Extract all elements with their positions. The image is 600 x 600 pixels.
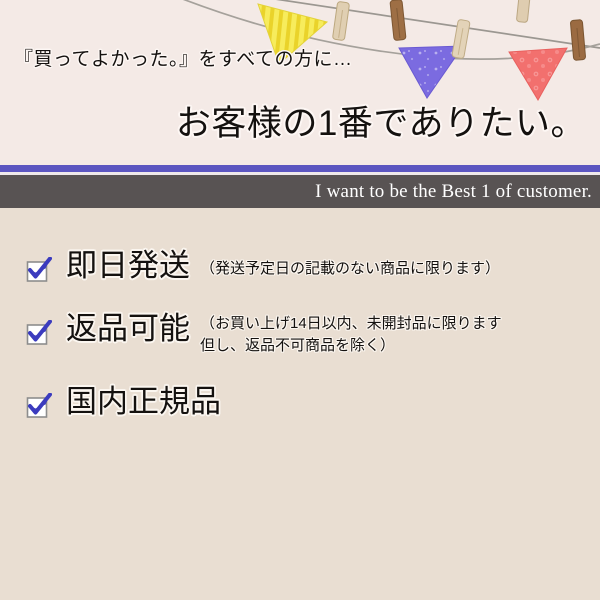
bunting-string-upper (255, 0, 600, 48)
english-slogan-band: I want to be the Best 1 of customer. (0, 175, 600, 208)
policy-title: 返品可能 (66, 311, 190, 348)
list-item: 国内正規品 (0, 384, 600, 421)
hero-headline: お客様の1番でありたい。 (176, 95, 586, 146)
clothespin-4 (570, 20, 585, 61)
policy-checklist: 即日発送 （発送予定日の記載のない商品に限ります） 返品可能 （お買い上げ14日… (0, 248, 600, 420)
list-item: 返品可能 （お買い上げ14日以内、未開封品に限ります 但し、返品不可商品を除く） (0, 311, 600, 358)
purple-star-flag (399, 46, 463, 98)
coral-floral-flag (509, 48, 567, 100)
policy-title: 国内正規品 (66, 384, 221, 421)
clothespin-1 (332, 1, 349, 40)
accent-rule (0, 165, 600, 172)
policy-note: （お買い上げ14日以内、未開封品に限ります 但し、返品不可商品を除く） (200, 313, 502, 358)
english-slogan: I want to be the Best 1 of customer. (315, 181, 592, 203)
hero-tagline: 『買ってよかった。』をすべての方に… (14, 44, 352, 71)
clothespin-2 (390, 0, 406, 41)
checked-checkbox-icon (26, 257, 52, 283)
clothespin-3 (452, 19, 470, 59)
policy-note: （発送予定日の記載のない商品に限ります） (200, 258, 500, 285)
checked-checkbox-icon (26, 393, 52, 419)
shop-policy-banner: 『買ってよかった。』をすべての方に… お客様の1番でありたい。 I want t… (0, 0, 600, 600)
hero-section: 『買ってよかった。』をすべての方に… お客様の1番でありたい。 (0, 0, 600, 165)
checked-checkbox-icon (26, 320, 52, 346)
policy-body: 即日発送 （発送予定日の記載のない商品に限ります） 返品可能 （お買い上げ14日… (0, 208, 600, 600)
clothespin-5 (516, 0, 530, 23)
list-item: 即日発送 （発送予定日の記載のない商品に限ります） (0, 248, 600, 285)
policy-title: 即日発送 (66, 248, 190, 285)
